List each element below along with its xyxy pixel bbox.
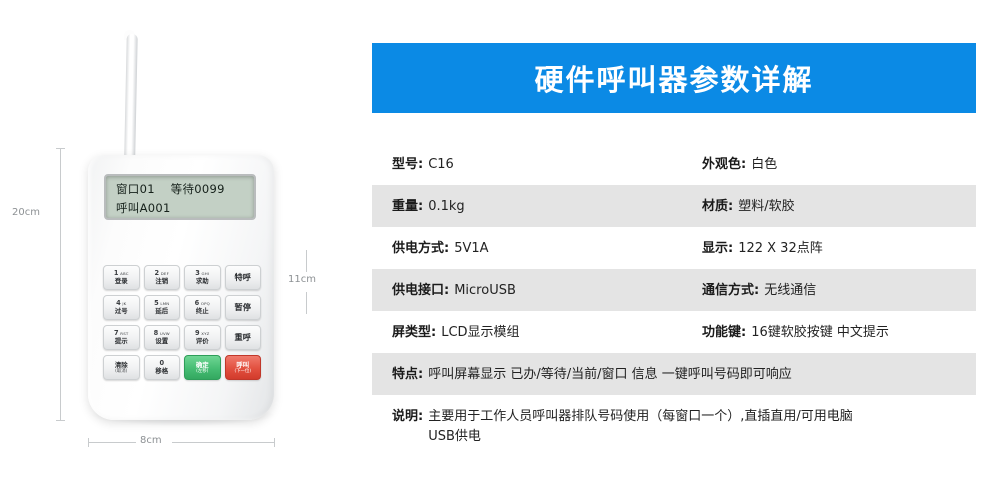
- width-dimension-cap-left: [88, 438, 89, 447]
- lcd-line-2: 呼叫A001: [116, 199, 254, 218]
- spec-key: 屏类型:: [392, 321, 436, 340]
- spec-row: 供电方式:5V1A显示:122 X 32点阵: [372, 227, 976, 269]
- spec-value: 无线通信: [764, 281, 816, 301]
- lcd-line-1: 窗口01 等待0099: [116, 180, 254, 199]
- specification-table: 型号:C16外观色:白色重量:0.1kg材质:塑料/软胶供电方式:5V1A显示:…: [372, 143, 976, 457]
- key-top-label: 7 RST: [114, 330, 128, 337]
- spec-key: 重量:: [392, 195, 423, 214]
- spec-value: 呼叫屏幕显示 已办/等待/当前/窗口 信息 一键呼叫号码即可响应: [428, 365, 792, 385]
- spec-value: LCD显示模组: [441, 323, 519, 343]
- product-photo-panel: 窗口01 等待0099 呼叫A001 1 ABC登录2 DEF注销3 GHI求助…: [0, 0, 360, 492]
- key-top-label: 4 JK: [116, 300, 126, 307]
- key-main-label: 终止: [196, 307, 209, 315]
- key-main-label: 延后: [155, 307, 168, 315]
- key-暂停[interactable]: 暂停: [225, 295, 262, 320]
- spec-row: 重量:0.1kg材质:塑料/软胶: [372, 185, 976, 227]
- key-main-label: 确定: [196, 361, 209, 369]
- height-dimension-line: [60, 148, 61, 420]
- key-main-label: 设置: [155, 337, 168, 345]
- key-top-label: 3 GHI: [195, 270, 209, 277]
- key-sub-label: (左移): [196, 369, 208, 375]
- banner: 硬件呼叫器参数详解: [372, 43, 976, 113]
- key-sub-label: (下一位): [234, 369, 251, 375]
- spec-key: 供电接口:: [392, 279, 449, 298]
- spec-row: 型号:C16外观色:白色: [372, 143, 976, 185]
- spec-key: 特点:: [392, 363, 423, 382]
- key-main-label: 求助: [196, 277, 209, 285]
- key-特呼[interactable]: 特呼: [225, 265, 262, 290]
- width-dimension-cap-right: [274, 438, 275, 447]
- key-top-label: 8 UVW: [154, 330, 170, 337]
- specification-panel: 硬件呼叫器参数详解 型号:C16外观色:白色重量:0.1kg材质:塑料/软胶供电…: [372, 0, 976, 492]
- key-main-label: 提示: [115, 337, 128, 345]
- key-main-label: 特呼: [235, 272, 251, 283]
- spec-key: 型号:: [392, 153, 423, 172]
- key-top-label: 5 LMN: [154, 300, 169, 307]
- height-dimension-cap-top: [56, 148, 65, 149]
- key-清除[interactable]: 清除(取消): [103, 355, 140, 380]
- lcd-display: 窗口01 等待0099 呼叫A001: [104, 174, 256, 220]
- spec-row: 说明:主要用于工作人员呼叫器排队号码使用（每窗口一个）,直插直用/可用电脑 US…: [372, 395, 976, 457]
- spec-value: 5V1A: [454, 239, 488, 259]
- spec-cell: 通信方式:无线通信: [702, 279, 976, 301]
- height-dimension-label: 20cm: [12, 207, 40, 218]
- key-5-延后[interactable]: 5 LMN延后: [144, 295, 181, 320]
- spec-key: 显示:: [702, 237, 733, 256]
- depth-dimension-line-upper: [306, 250, 307, 272]
- spec-value: 主要用于工作人员呼叫器排队号码使用（每窗口一个）,直插直用/可用电脑 USB供电: [428, 407, 853, 447]
- spec-row: 供电接口:MicroUSB通信方式:无线通信: [372, 269, 976, 311]
- spec-value: MicroUSB: [454, 281, 516, 301]
- key-main-label: 移格: [155, 367, 168, 375]
- key-main-label: 注销: [155, 277, 168, 285]
- product-spec-page: 窗口01 等待0099 呼叫A001 1 ABC登录2 DEF注销3 GHI求助…: [0, 0, 1000, 492]
- antenna: [124, 34, 138, 166]
- spec-key: 功能键:: [702, 321, 746, 340]
- key-top-label: 6 OPQ: [195, 300, 210, 307]
- spec-key: 材质:: [702, 195, 733, 214]
- keypad: 1 ABC登录2 DEF注销3 GHI求助特呼4 JK过号5 LMN延后6 OP…: [103, 265, 261, 380]
- depth-dimension-label: 11cm: [288, 274, 316, 285]
- banner-title: 硬件呼叫器参数详解: [534, 57, 813, 99]
- spec-cell: 供电接口:MicroUSB: [392, 279, 702, 301]
- height-dimension-cap-bottom: [56, 420, 65, 421]
- width-dimension-line-left: [88, 442, 136, 443]
- key-6-终止[interactable]: 6 OPQ终止: [184, 295, 221, 320]
- key-呼叫[interactable]: 呼叫(下一位): [225, 355, 262, 380]
- key-main-label: 登录: [115, 277, 128, 285]
- spec-row: 特点:呼叫屏幕显示 已办/等待/当前/窗口 信息 一键呼叫号码即可响应: [372, 353, 976, 395]
- key-7-提示[interactable]: 7 RST提示: [103, 325, 140, 350]
- spec-value: 16键软胶按键 中文提示: [751, 323, 889, 343]
- key-9-评价[interactable]: 9 XYZ评价: [184, 325, 221, 350]
- spec-key: 说明:: [392, 405, 423, 424]
- spec-cell: 型号:C16: [392, 153, 702, 175]
- depth-dimension-line-lower: [306, 292, 307, 314]
- key-main-label: 暂停: [235, 302, 251, 313]
- key-top-label: 9 XYZ: [195, 330, 210, 337]
- spec-value: 白色: [751, 155, 777, 175]
- key-main-label: 过号: [115, 307, 128, 315]
- spec-cell: 特点:呼叫屏幕显示 已办/等待/当前/窗口 信息 一键呼叫号码即可响应: [392, 363, 976, 385]
- spec-cell: 供电方式:5V1A: [392, 237, 702, 259]
- key-1-登录[interactable]: 1 ABC登录: [103, 265, 140, 290]
- key-top-label: 0: [159, 360, 164, 367]
- spec-key: 通信方式:: [702, 279, 759, 298]
- key-确定[interactable]: 确定(左移): [184, 355, 221, 380]
- key-top-label: 1 ABC: [114, 270, 129, 277]
- spec-cell: 重量:0.1kg: [392, 195, 702, 217]
- width-dimension-label: 8cm: [140, 435, 162, 446]
- key-3-求助[interactable]: 3 GHI求助: [184, 265, 221, 290]
- spec-key: 供电方式:: [392, 237, 449, 256]
- key-main-label: 呼叫: [236, 361, 249, 369]
- key-0-移格[interactable]: 0移格: [144, 355, 181, 380]
- spec-cell: 屏类型:LCD显示模组: [392, 321, 702, 343]
- key-重呼[interactable]: 重呼: [225, 325, 262, 350]
- spec-value: 塑料/软胶: [738, 197, 794, 217]
- spec-value: 0.1kg: [428, 197, 464, 217]
- key-main-label: 重呼: [235, 332, 251, 343]
- key-8-设置[interactable]: 8 UVW设置: [144, 325, 181, 350]
- key-top-label: 2 DEF: [154, 270, 169, 277]
- spec-value: 122 X 32点阵: [738, 239, 823, 259]
- key-sub-label: (取消): [115, 369, 127, 375]
- spec-key: 外观色:: [702, 153, 746, 172]
- spec-row: 屏类型:LCD显示模组功能键:16键软胶按键 中文提示: [372, 311, 976, 353]
- key-4-过号[interactable]: 4 JK过号: [103, 295, 140, 320]
- width-dimension-line-right: [172, 442, 274, 443]
- spec-value: C16: [428, 155, 454, 175]
- spec-cell: 外观色:白色: [702, 153, 976, 175]
- key-2-注销[interactable]: 2 DEF注销: [144, 265, 181, 290]
- key-main-label: 评价: [196, 337, 209, 345]
- spec-cell: 材质:塑料/软胶: [702, 195, 976, 217]
- key-main-label: 清除: [115, 361, 128, 369]
- spec-cell: 显示:122 X 32点阵: [702, 237, 976, 259]
- spec-cell: 功能键:16键软胶按键 中文提示: [702, 321, 976, 343]
- spec-cell: 说明:主要用于工作人员呼叫器排队号码使用（每窗口一个）,直插直用/可用电脑 US…: [392, 405, 976, 447]
